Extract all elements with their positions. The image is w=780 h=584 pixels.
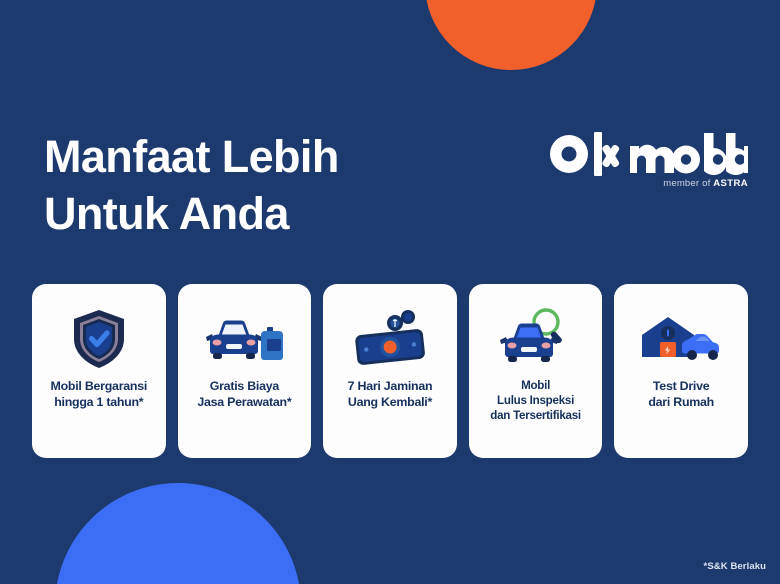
- benefit-card-label: Test Drive dari Rumah: [648, 378, 714, 410]
- benefit-cards-row: Mobil Bergaransi hingga 1 tahun*: [32, 284, 748, 458]
- logo-tagline-prefix: member of: [663, 178, 713, 189]
- logo-tagline: member of ASTRA: [548, 178, 748, 189]
- page-title: Manfaat Lebih Untuk Anda: [44, 128, 339, 242]
- logo-wordmark-olxmobbi: [548, 132, 748, 176]
- benefit-card-label: 7 Hari Jaminan Uang Kembali*: [348, 378, 433, 410]
- benefit-card-label: Mobil Lulus Inspeksi dan Tersertifikasi: [490, 378, 581, 423]
- benefit-card-money-back[interactable]: 7 Hari Jaminan Uang Kembali*: [323, 284, 457, 458]
- promo-banner: Manfaat Lebih Untuk Anda: [0, 0, 780, 584]
- house-car-icon: [638, 302, 724, 376]
- benefit-card-label: Gratis Biaya Jasa Perawatan*: [197, 378, 291, 410]
- logo-tagline-brand: ASTRA: [713, 178, 748, 189]
- benefit-card-warranty[interactable]: Mobil Bergaransi hingga 1 tahun*: [32, 284, 166, 458]
- shield-check-icon: [70, 302, 128, 376]
- blue-circle-decoration: [55, 483, 301, 584]
- brand-logo: member of ASTRA: [548, 132, 748, 189]
- car-oil-icon: [201, 302, 287, 376]
- footnote-terms: *S&K Berlaku: [704, 561, 766, 572]
- benefit-card-test-drive[interactable]: Test Drive dari Rumah: [614, 284, 748, 458]
- benefit-card-label: Mobil Bergaransi hingga 1 tahun*: [51, 378, 148, 410]
- benefit-card-inspection[interactable]: Mobil Lulus Inspeksi dan Tersertifikasi: [469, 284, 603, 458]
- benefit-card-free-service[interactable]: Gratis Biaya Jasa Perawatan*: [178, 284, 312, 458]
- banknote-coins-icon: [348, 302, 432, 376]
- car-magnifier-icon: [496, 302, 576, 376]
- orange-circle-decoration: [425, 0, 597, 70]
